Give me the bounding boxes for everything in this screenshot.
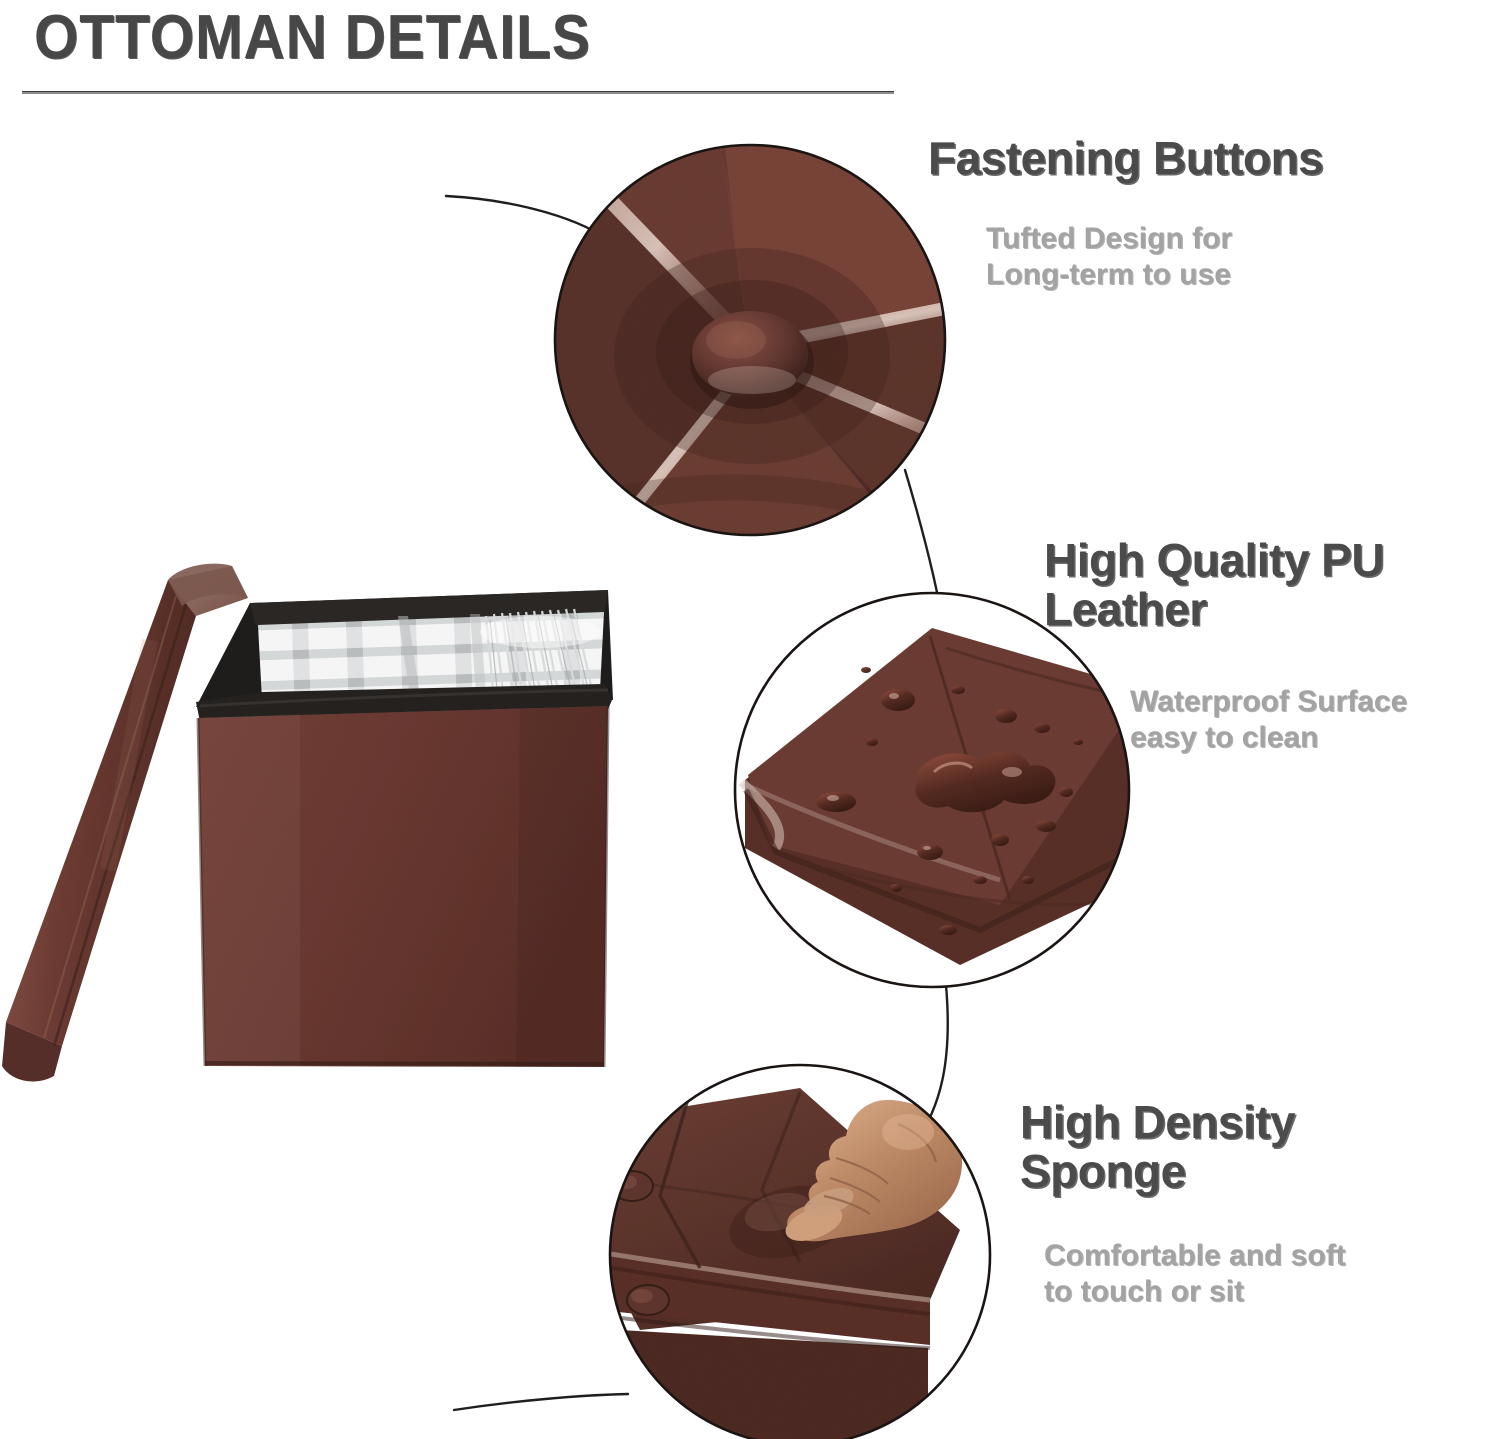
infographic-page: OTTOMAN DETAILS [0,0,1500,1439]
connector-line-circle3-tail [454,1394,628,1410]
callout-1-heading: Fastening Buttons [928,134,1468,183]
callout-2-heading-line-2: Leather [1044,583,1207,635]
callout-1-subtext: Tufted Design for Long-term to use [986,221,1468,294]
callout-2-heading: High Quality PU Leather [1044,536,1494,634]
callout-3-subtext-line-1: Comfortable and soft [1044,1239,1346,1272]
callout-high-density-sponge: High Density Sponge Comfortable and soft… [1020,1098,1480,1311]
callout-3-heading: High Density Sponge [1020,1098,1480,1196]
callout-3-subtext-line-2: to touch or sit [1044,1275,1244,1308]
callout-2-heading-line-1: High Quality PU [1044,534,1384,586]
callout-1-subtext-line-1: Tufted Design for [986,222,1232,255]
callout-3-heading-line-1: High Density [1020,1096,1295,1148]
callout-2-subtext: Waterproof Surface easy to clean [1130,684,1494,757]
callout-2-subtext-line-1: Waterproof Surface [1130,685,1407,718]
callout-3-heading-line-2: Sponge [1020,1145,1186,1197]
main-product-ottoman [2,564,613,1082]
detail-circle-sponge-press [598,1062,994,1439]
callout-pu-leather: High Quality PU Leather Waterproof Surfa… [1044,536,1494,757]
callout-2-subtext-line-2: easy to clean [1130,721,1318,754]
ottoman-body [196,590,613,1067]
callout-fastening-buttons: Fastening Buttons Tufted Design for Long… [928,134,1468,294]
callout-1-subtext-line-2: Long-term to use [986,258,1231,291]
callout-3-subtext: Comfortable and soft to touch or sit [1044,1238,1480,1311]
